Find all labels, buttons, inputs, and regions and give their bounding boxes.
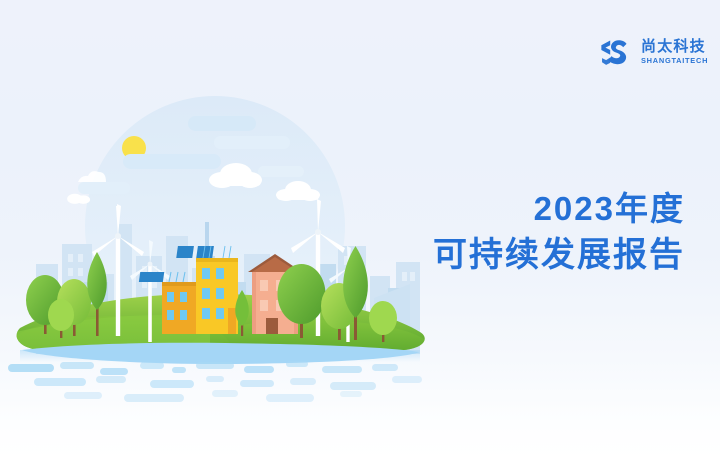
company-name-en: SHANGTAITECH bbox=[641, 57, 708, 64]
report-cover-slide: 尚太科技 SHANGTAITECH 2023年度 可持续发展报告 bbox=[0, 0, 720, 460]
logo-text-block: 尚太科技 SHANGTAITECH bbox=[641, 39, 708, 64]
company-logo: 尚太科技 SHANGTAITECH bbox=[600, 31, 708, 73]
title-line-year: 2023年度 bbox=[433, 186, 685, 232]
sustainable-city-illustration bbox=[0, 96, 470, 406]
title-line-subject: 可持续发展报告 bbox=[433, 232, 685, 278]
water-ripples bbox=[8, 361, 422, 402]
shangtaitech-s-mark-icon bbox=[600, 35, 634, 69]
company-name-cn: 尚太科技 bbox=[641, 39, 708, 54]
page-title: 2023年度 可持续发展报告 bbox=[433, 186, 685, 278]
